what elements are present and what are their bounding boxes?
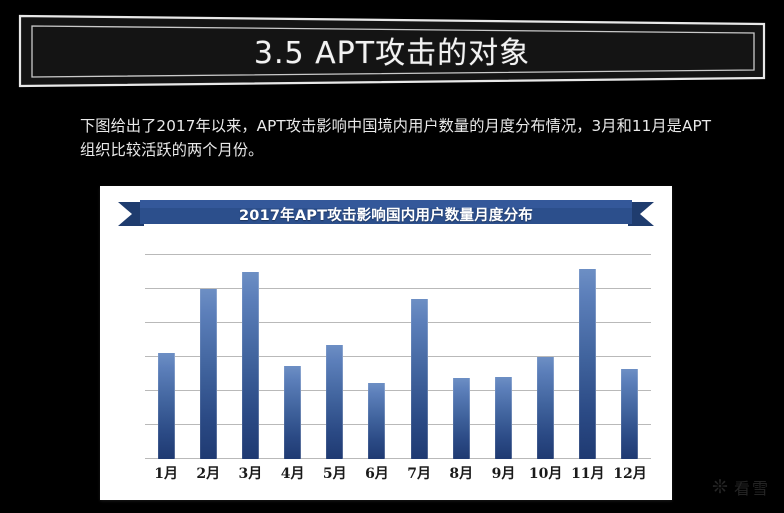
bar-slot xyxy=(229,255,271,459)
bar-slot xyxy=(525,255,567,459)
chart-card: 2017年APT攻击影响国内用户数量月度分布 1月2月3月4月5月6月7月8月9… xyxy=(100,186,672,500)
bar-12月 xyxy=(621,369,638,459)
watermark: ❊ 看雪 xyxy=(712,475,770,499)
x-label-10月: 10月 xyxy=(525,463,567,487)
chart-x-axis-labels: 1月2月3月4月5月6月7月8月9月10月11月12月 xyxy=(145,463,651,487)
bar-5月 xyxy=(326,345,343,459)
bar-2月 xyxy=(200,289,217,459)
x-label-1月: 1月 xyxy=(145,463,187,487)
snowflake-icon: ❊ xyxy=(712,478,728,497)
body-paragraph: 下图给出了2017年以来，APT攻击影响中国境内用户数量的月度分布情况，3月和1… xyxy=(80,114,720,162)
chart-title-ribbon: 2017年APT攻击影响国内用户数量月度分布 xyxy=(118,200,654,228)
bar-8月 xyxy=(453,378,470,459)
bar-slot xyxy=(187,255,229,459)
chart-bars xyxy=(145,255,651,459)
bar-10月 xyxy=(537,357,554,459)
bar-4月 xyxy=(284,366,301,459)
title-banner: 3.5 APT攻击的对象 xyxy=(18,14,766,88)
slide-root: 3.5 APT攻击的对象 下图给出了2017年以来，APT攻击影响中国境内用户数… xyxy=(0,0,784,513)
x-label-12月: 12月 xyxy=(609,463,651,487)
bar-11月 xyxy=(579,269,596,459)
chart-plot-area xyxy=(145,255,651,459)
bar-slot xyxy=(272,255,314,459)
x-label-7月: 7月 xyxy=(398,463,440,487)
x-label-11月: 11月 xyxy=(567,463,609,487)
bar-slot xyxy=(440,255,482,459)
bar-slot xyxy=(145,255,187,459)
bar-slot xyxy=(567,255,609,459)
bar-slot xyxy=(314,255,356,459)
page-title: 3.5 APT攻击的对象 xyxy=(18,28,766,72)
bar-7月 xyxy=(411,299,428,459)
bar-9月 xyxy=(495,377,512,459)
chart-title-text: 2017年APT攻击影响国内用户数量月度分布 xyxy=(118,200,654,228)
x-label-8月: 8月 xyxy=(440,463,482,487)
x-label-5月: 5月 xyxy=(314,463,356,487)
x-label-4月: 4月 xyxy=(272,463,314,487)
bar-slot xyxy=(482,255,524,459)
x-label-2月: 2月 xyxy=(187,463,229,487)
watermark-label: 看雪 xyxy=(734,475,770,499)
x-label-6月: 6月 xyxy=(356,463,398,487)
bar-slot xyxy=(609,255,651,459)
bar-slot xyxy=(398,255,440,459)
bar-6月 xyxy=(368,383,385,459)
bar-3月 xyxy=(242,272,259,459)
bar-1月 xyxy=(158,353,175,459)
bar-slot xyxy=(356,255,398,459)
x-label-9月: 9月 xyxy=(482,463,524,487)
x-label-3月: 3月 xyxy=(229,463,271,487)
